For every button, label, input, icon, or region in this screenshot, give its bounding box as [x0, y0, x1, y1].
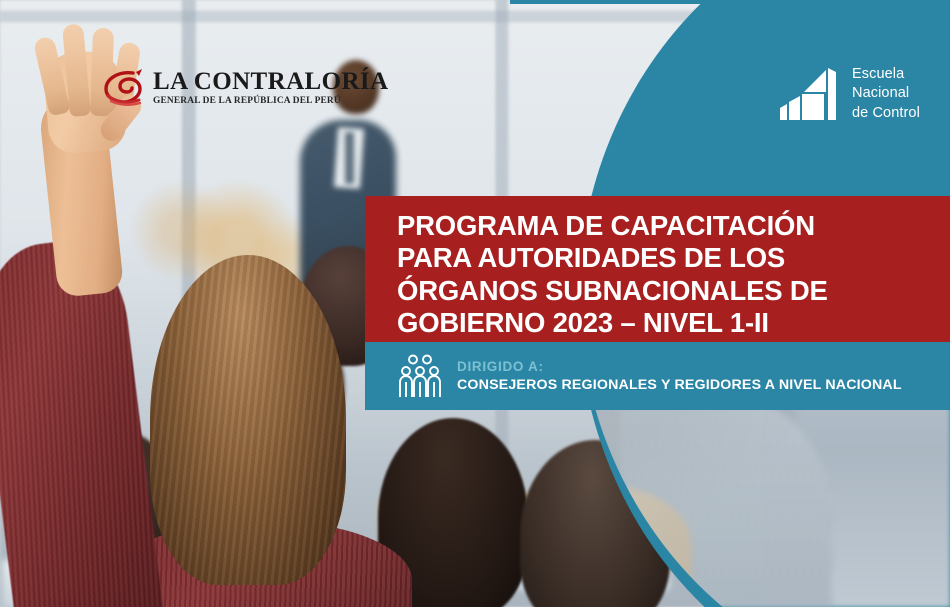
escuela-logo-text: Escuela Nacional de Control [852, 65, 920, 124]
contraloria-logo-title: LA CONTRALORÍA [153, 69, 389, 94]
audience-banner: DIRIGIDO A: CONSEJEROS REGIONALES Y REGI… [365, 342, 950, 410]
contraloria-logo: LA CONTRALORÍA GENERAL DE LA REPÚBLICA D… [103, 66, 389, 110]
audience-value: CONSEJEROS REGIONALES Y REGIDORES A NIVE… [457, 377, 902, 393]
escuela-nacional-de-control-logo: Escuela Nacional de Control [778, 62, 920, 126]
program-title: PROGRAMA DE CAPACITACIÓN PARA AUTORIDADE… [397, 210, 928, 339]
audience-label: DIRIGIDO A: [457, 359, 902, 374]
title-line-3: ÓRGANOS SUBNACIONALES DE [397, 275, 928, 307]
photo-foreground-head [150, 255, 346, 585]
promotional-banner: LA CONTRALORÍA GENERAL DE LA REPÚBLICA D… [0, 0, 950, 607]
escuela-logo-line1: Escuela [852, 66, 904, 82]
photo-speaker-tie [345, 132, 354, 184]
contraloria-swoosh-icon [103, 66, 147, 110]
escuela-logo-line2: Nacional [852, 85, 909, 101]
title-line-2: PARA AUTORIDADES DE LOS [397, 242, 928, 274]
title-banner: PROGRAMA DE CAPACITACIÓN PARA AUTORIDADE… [365, 196, 950, 342]
escuela-building-icon [778, 62, 842, 126]
group-of-people-icon [397, 353, 443, 399]
top-teal-strip [510, 0, 950, 4]
title-line-1: PROGRAMA DE CAPACITACIÓN [397, 210, 928, 242]
contraloria-logo-subtitle: GENERAL DE LA REPÚBLICA DEL PERÚ [153, 97, 389, 106]
escuela-logo-line3: de Control [852, 105, 920, 121]
title-line-4: GOBIERNO 2023 – NIVEL 1-II [397, 307, 928, 339]
